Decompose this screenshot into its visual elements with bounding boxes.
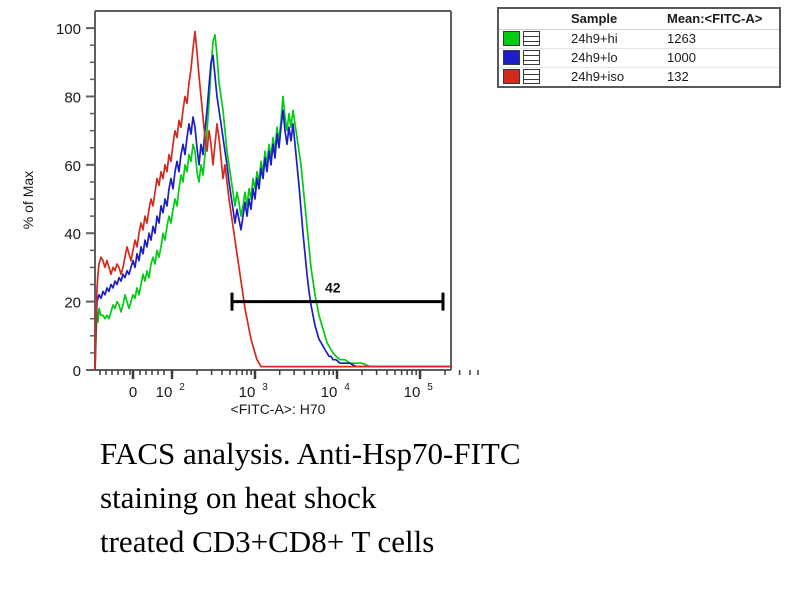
x-tick-exponent: 5 xyxy=(427,382,433,393)
x-tick-label: 10 xyxy=(321,384,338,401)
legend-icons-cell xyxy=(499,30,565,49)
legend-mean-value: 1000 xyxy=(661,49,779,68)
legend-row[interactable]: 24h9+lo1000 xyxy=(499,49,779,68)
x-tick-label: 10 xyxy=(404,384,421,401)
legend-icons-cell xyxy=(499,49,565,68)
x-tick-exponent: 2 xyxy=(179,382,185,393)
stacked-lines-icon[interactable] xyxy=(523,31,540,46)
legend-header-icons xyxy=(499,9,565,30)
gate-label: 42 xyxy=(325,280,341,296)
histogram-plot: 020406080100 0102103104105 42 % of Max <… xyxy=(0,0,480,430)
gate-marker[interactable]: 42 xyxy=(232,280,443,311)
y-tick-label: 60 xyxy=(64,158,81,175)
legend-header-sample: Sample xyxy=(565,9,661,30)
y-tick-label: 20 xyxy=(64,295,81,312)
x-axis: 0102103104105 xyxy=(100,370,480,401)
plot-frame xyxy=(95,11,451,370)
legend-sample-name: 24h9+lo xyxy=(565,49,661,68)
facs-histogram-panel: 020406080100 0102103104105 42 % of Max <… xyxy=(0,0,480,430)
histogram-trace xyxy=(95,35,451,370)
legend-table: Sample Mean:<FITC-A> 24h9+hi126324h9+lo1… xyxy=(499,9,779,86)
caption-line-3: treated CD3+CD8+ T cells xyxy=(100,520,790,564)
caption-line-1: FACS analysis. Anti-Hsp70-FITC xyxy=(100,432,790,476)
legend-panel[interactable]: Sample Mean:<FITC-A> 24h9+hi126324h9+lo1… xyxy=(497,7,781,88)
legend-icons-cell xyxy=(499,68,565,87)
x-tick-exponent: 3 xyxy=(262,382,268,393)
x-axis-title: <FITC-A>: H70 xyxy=(231,401,326,417)
series-color-swatch-icon[interactable] xyxy=(503,31,520,46)
y-axis: 020406080100 xyxy=(56,21,95,380)
stacked-lines-icon[interactable] xyxy=(523,69,540,84)
x-tick-exponent: 4 xyxy=(344,382,350,393)
histogram-trace xyxy=(95,32,451,371)
y-tick-label: 0 xyxy=(73,363,81,380)
figure-caption: FACS analysis. Anti-Hsp70-FITC staining … xyxy=(100,432,790,564)
legend-mean-value: 1263 xyxy=(661,30,779,49)
histogram-traces xyxy=(95,32,451,371)
stacked-lines-icon[interactable] xyxy=(523,50,540,65)
y-tick-label: 80 xyxy=(64,89,81,106)
legend-sample-name: 24h9+hi xyxy=(565,30,661,49)
y-axis-title: % of Max xyxy=(20,171,36,229)
y-tick-label: 100 xyxy=(56,21,81,38)
legend-body: 24h9+hi126324h9+lo100024h9+iso132 xyxy=(499,30,779,87)
legend-row[interactable]: 24h9+hi1263 xyxy=(499,30,779,49)
legend-header-mean: Mean:<FITC-A> xyxy=(661,9,779,30)
series-color-swatch-icon[interactable] xyxy=(503,69,520,84)
caption-line-2: staining on heat shock xyxy=(100,476,790,520)
legend-header-row: Sample Mean:<FITC-A> xyxy=(499,9,779,30)
legend-sample-name: 24h9+iso xyxy=(565,68,661,87)
y-tick-label: 40 xyxy=(64,226,81,243)
x-tick-label: 0 xyxy=(129,384,137,401)
x-tick-label: 10 xyxy=(239,384,256,401)
legend-row[interactable]: 24h9+iso132 xyxy=(499,68,779,87)
x-tick-label: 10 xyxy=(156,384,173,401)
legend-mean-value: 132 xyxy=(661,68,779,87)
series-color-swatch-icon[interactable] xyxy=(503,50,520,65)
